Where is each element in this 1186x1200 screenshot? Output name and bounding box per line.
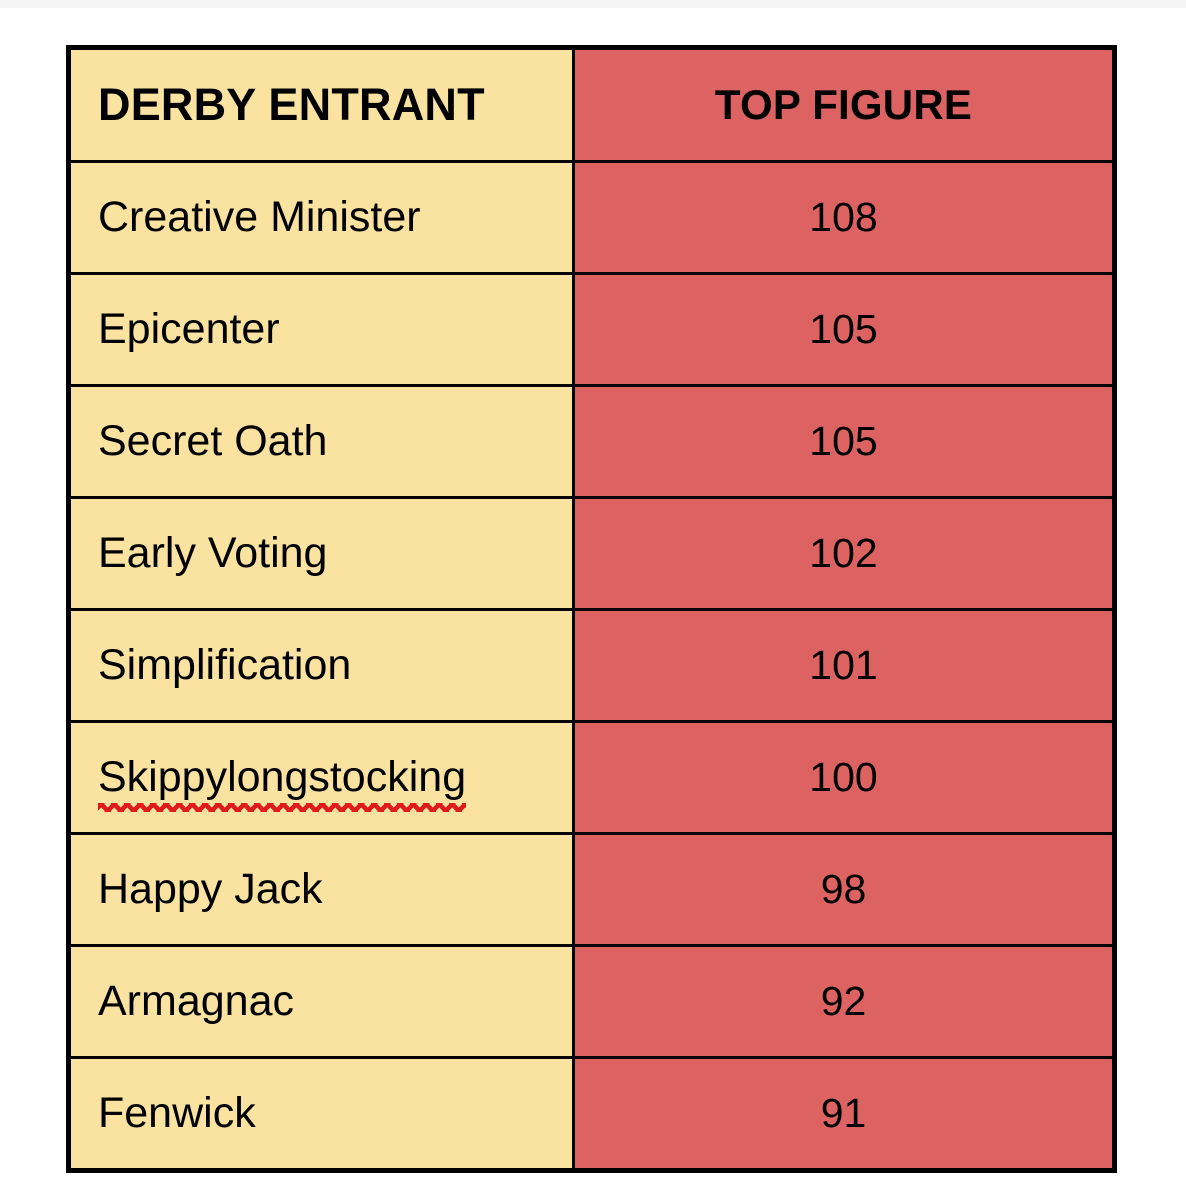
cell-derby-entrant: Skippylongstocking [69, 722, 574, 834]
entrant-name: Epicenter [98, 308, 280, 351]
table-row: Skippylongstocking100 [69, 722, 1115, 834]
table-row: Epicenter105 [69, 274, 1115, 386]
column-header-top-figure: TOP FIGURE [574, 48, 1115, 162]
cell-derby-entrant: Secret Oath [69, 386, 574, 498]
cell-top-figure: 92 [574, 946, 1115, 1058]
cell-top-figure: 101 [574, 610, 1115, 722]
entrant-name: Secret Oath [98, 420, 327, 463]
cell-top-figure: 91 [574, 1058, 1115, 1171]
table-row: Armagnac92 [69, 946, 1115, 1058]
entrant-name: Armagnac [98, 980, 294, 1023]
table-header-row: DERBY ENTRANT TOP FIGURE [69, 48, 1115, 162]
cell-top-figure: 105 [574, 274, 1115, 386]
column-header-derby-entrant: DERBY ENTRANT [69, 48, 574, 162]
cell-derby-entrant: Creative Minister [69, 162, 574, 274]
cell-top-figure: 105 [574, 386, 1115, 498]
cell-top-figure: 108 [574, 162, 1115, 274]
cell-derby-entrant: Early Voting [69, 498, 574, 610]
entrant-name: Fenwick [98, 1092, 256, 1135]
cell-top-figure: 100 [574, 722, 1115, 834]
entrant-name: Happy Jack [98, 868, 323, 911]
derby-table-container: DERBY ENTRANT TOP FIGURE Creative Minist… [66, 45, 1112, 1173]
entrant-name-misspelled: Skippylongstocking [98, 756, 466, 799]
table-row: Secret Oath105 [69, 386, 1115, 498]
table-row: Creative Minister108 [69, 162, 1115, 274]
cell-derby-entrant: Epicenter [69, 274, 574, 386]
derby-top-figures-table: DERBY ENTRANT TOP FIGURE Creative Minist… [66, 45, 1117, 1173]
entrant-name: Creative Minister [98, 196, 421, 239]
cell-derby-entrant: Armagnac [69, 946, 574, 1058]
entrant-name: Simplification [98, 644, 351, 687]
table-row: Simplification101 [69, 610, 1115, 722]
table-header: DERBY ENTRANT TOP FIGURE [69, 48, 1115, 162]
top-edge-strip [0, 0, 1186, 8]
table-row: Fenwick91 [69, 1058, 1115, 1171]
cell-top-figure: 102 [574, 498, 1115, 610]
table-row: Early Voting102 [69, 498, 1115, 610]
cell-derby-entrant: Fenwick [69, 1058, 574, 1171]
entrant-name: Early Voting [98, 532, 327, 575]
cell-derby-entrant: Simplification [69, 610, 574, 722]
table-row: Happy Jack98 [69, 834, 1115, 946]
cell-top-figure: 98 [574, 834, 1115, 946]
cell-derby-entrant: Happy Jack [69, 834, 574, 946]
table-body: Creative Minister108Epicenter105Secret O… [69, 162, 1115, 1171]
